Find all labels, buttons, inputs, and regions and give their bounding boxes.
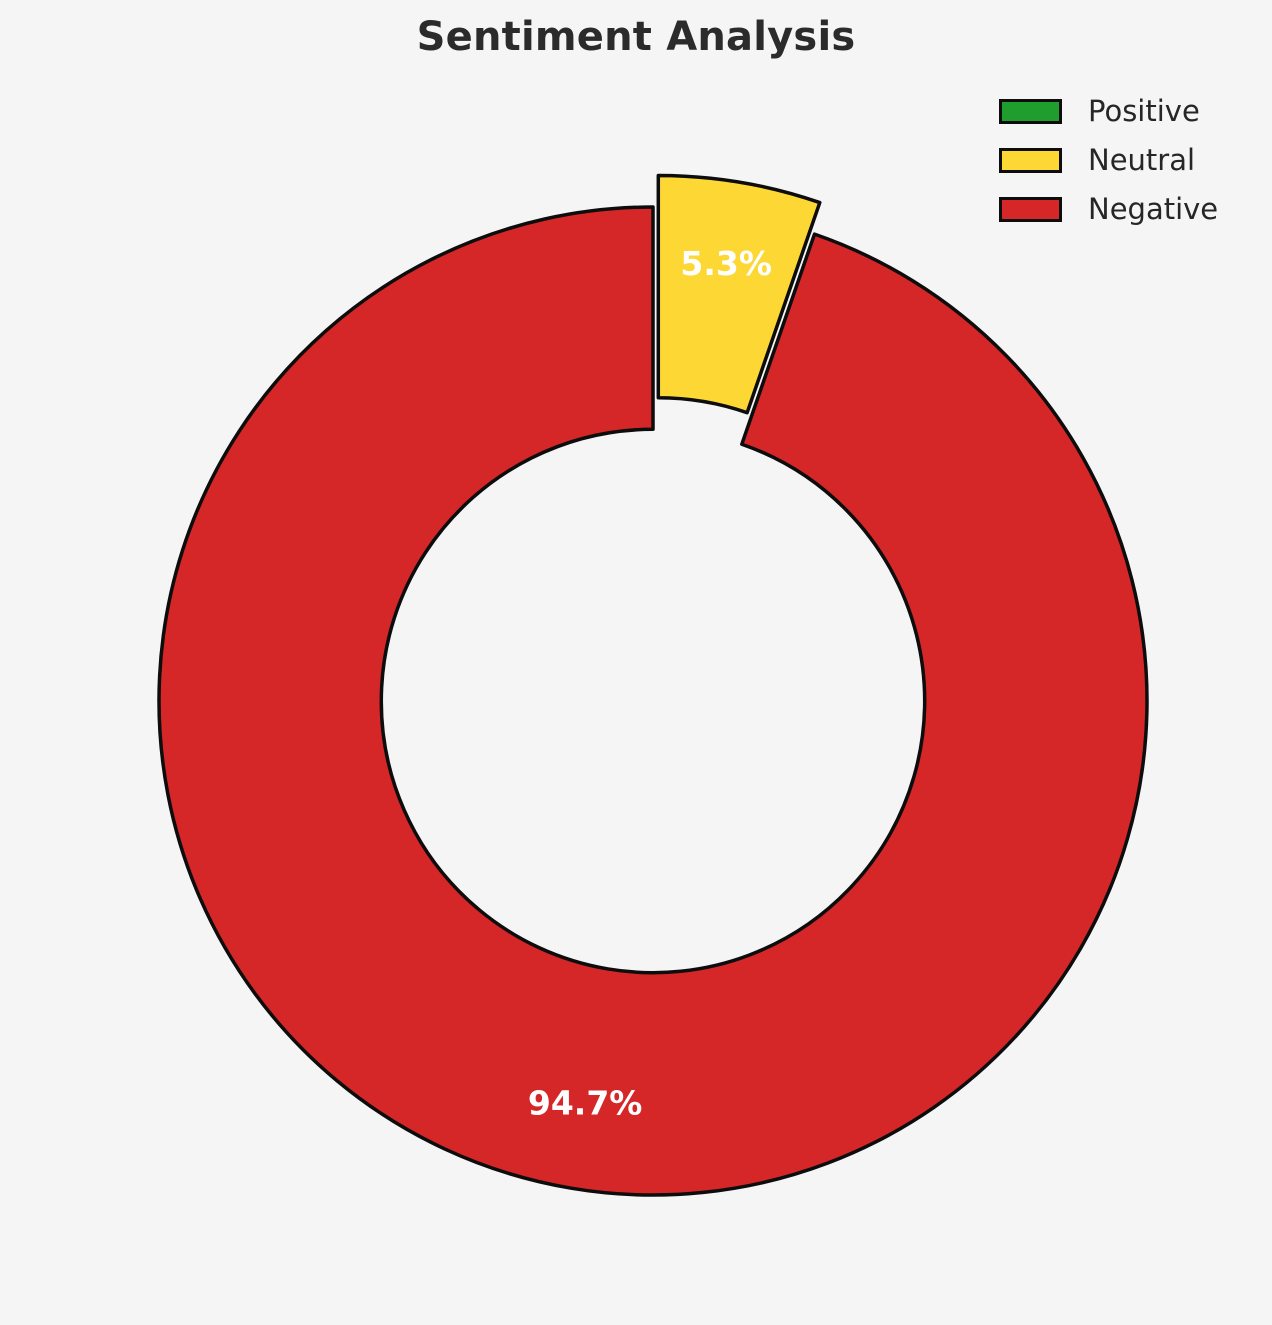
donut-slices — [159, 175, 1147, 1195]
legend-label-neutral: Neutral — [1088, 146, 1195, 175]
slice-label-negative: 94.7% — [528, 1083, 643, 1122]
legend: Positive Neutral Negative — [999, 97, 1218, 223]
legend-swatch-neutral — [999, 148, 1062, 173]
legend-swatch-positive — [999, 99, 1062, 124]
slice-label-neutral: 5.3% — [680, 244, 772, 283]
legend-label-negative: Negative — [1088, 195, 1218, 224]
legend-swatch-negative — [999, 197, 1062, 222]
chart-canvas: Sentiment Analysis 5.3% 94.7% Positive N… — [0, 0, 1272, 1325]
legend-item-negative[interactable]: Negative — [999, 195, 1218, 223]
legend-label-positive: Positive — [1088, 97, 1200, 126]
slice-negative[interactable] — [159, 207, 1147, 1195]
legend-item-neutral[interactable]: Neutral — [999, 146, 1218, 174]
legend-item-positive[interactable]: Positive — [999, 97, 1218, 125]
